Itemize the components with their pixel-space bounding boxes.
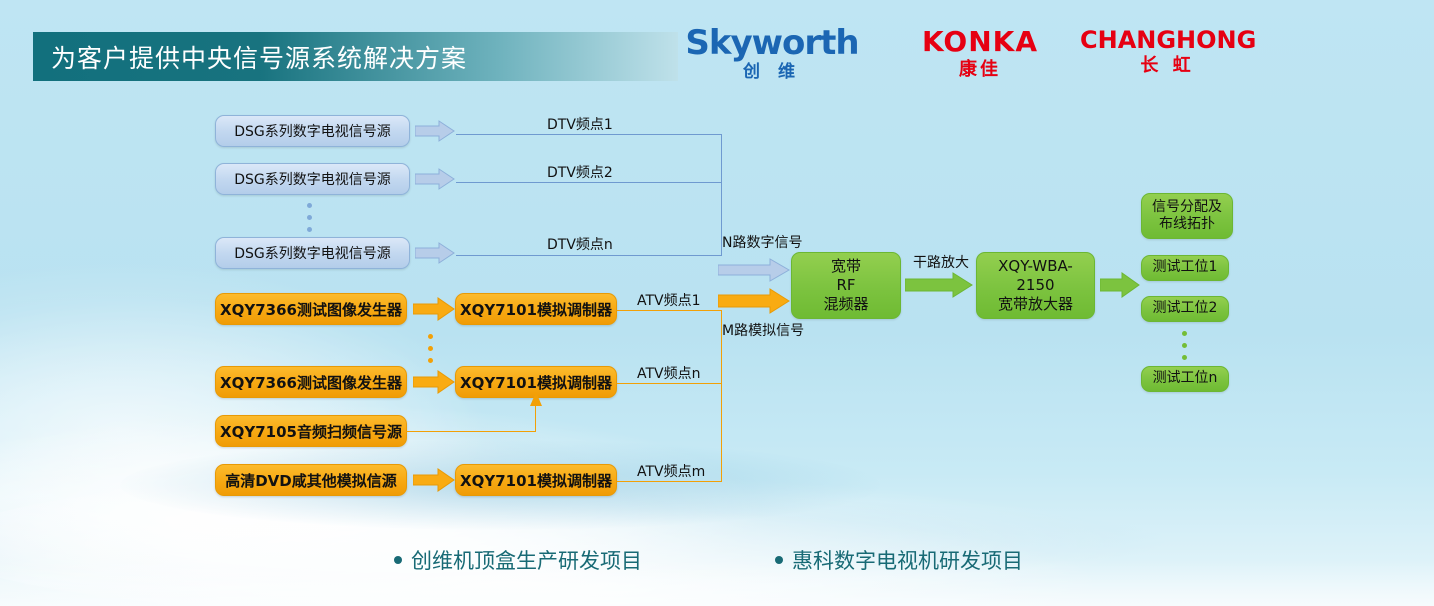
arrow-analog-bus-icon — [718, 288, 790, 314]
node-digital-source-1[interactable]: DSG系列数字电视信号源 — [215, 115, 410, 147]
atv-line-n — [617, 383, 722, 384]
node-test-station-n[interactable]: 测试工位n — [1141, 366, 1229, 392]
audio-route-arrowhead-icon — [529, 392, 543, 408]
analog-sources-ellipsis — [428, 334, 433, 363]
label-digital-bus: N路数字信号 — [722, 232, 802, 252]
footer-bullet-2: 惠科数字电视机研发项目 — [775, 545, 1023, 575]
audio-route-horizontal — [406, 431, 536, 432]
label-dtv-n: DTV频点n — [547, 234, 613, 254]
page-title: 为客户提供中央信号源系统解决方案 — [33, 39, 467, 75]
digital-line-2 — [456, 182, 722, 183]
label-atv-1: ATV频点1 — [637, 290, 701, 310]
footer-bullet-1: 创维机顶盒生产研发项目 — [394, 545, 642, 575]
node-digital-source-2[interactable]: DSG系列数字电视信号源 — [215, 163, 410, 195]
arrow-digital-n-icon — [415, 242, 455, 264]
slide-title-bar: 为客户提供中央信号源系统解决方案 — [33, 32, 678, 81]
atv-line-1 — [617, 310, 722, 311]
logo-konka: KONKA 康佳 — [905, 28, 1055, 79]
label-dtv-2: DTV频点2 — [547, 162, 613, 182]
arrow-dvd-icon — [413, 468, 455, 492]
logo-changhong-cn: 长 虹 — [1080, 57, 1255, 75]
footer-bullet-1-label: 创维机顶盒生产研发项目 — [411, 545, 642, 575]
logo-konka-en: KONKA — [905, 28, 1055, 56]
arrow-digital-bus-icon — [718, 258, 790, 282]
digital-line-1 — [456, 134, 722, 135]
node-signal-topology[interactable]: 信号分配及 布线拓扑 — [1141, 193, 1233, 239]
audio-route-vertical — [535, 406, 536, 432]
label-dtv-1: DTV频点1 — [547, 114, 613, 134]
background-swirl — [0, 560, 1434, 606]
digital-sources-ellipsis — [307, 203, 312, 232]
label-atv-m: ATV频点m — [637, 461, 705, 481]
logo-changhong-en: CHANGHONG — [1080, 28, 1255, 52]
node-dvd-source[interactable]: 高清DVD咸其他模拟信源 — [215, 464, 407, 496]
label-atv-n: ATV频点n — [637, 363, 701, 383]
bullet-dot-icon — [394, 556, 402, 564]
node-audio-sweep-source[interactable]: XQY7105音频扫频信号源 — [215, 415, 407, 447]
node-test-station-2[interactable]: 测试工位2 — [1141, 296, 1229, 322]
arrow-analog-2-icon — [413, 370, 455, 394]
arrow-digital-1-icon — [415, 120, 455, 142]
arrow-digital-2-icon — [415, 168, 455, 190]
footer-bullet-2-label: 惠科数字电视机研发项目 — [792, 545, 1023, 575]
node-modulator-1[interactable]: XQY7101模拟调制器 — [455, 293, 617, 325]
logo-skyworth-cn: 创 维 — [672, 64, 872, 81]
arrow-amplify-icon — [905, 272, 973, 298]
logo-konka-cn: 康佳 — [905, 61, 1055, 79]
atv-line-m — [617, 481, 722, 482]
arrow-analog-1-icon — [413, 297, 455, 321]
test-stations-ellipsis — [1182, 331, 1187, 360]
node-modulator-3[interactable]: XQY7101模拟调制器 — [455, 464, 617, 496]
label-trunk-amplify: 干路放大 — [913, 252, 969, 272]
node-image-generator-1[interactable]: XQY7366测试图像发生器 — [215, 293, 407, 325]
logo-changhong: CHANGHONG 长 虹 — [1080, 28, 1255, 75]
arrow-distribute-icon — [1100, 272, 1140, 298]
node-digital-source-n[interactable]: DSG系列数字电视信号源 — [215, 237, 410, 269]
digital-line-n — [456, 255, 722, 256]
node-broadband-amplifier[interactable]: XQY-WBA- 2150 宽带放大器 — [976, 252, 1095, 319]
bullet-dot-icon — [775, 556, 783, 564]
slide-canvas: 为客户提供中央信号源系统解决方案 Skyworth 创 维 KONKA 康佳 C… — [0, 0, 1434, 606]
node-image-generator-2[interactable]: XQY7366测试图像发生器 — [215, 366, 407, 398]
logo-skyworth-en: Skyworth — [672, 26, 872, 60]
label-analog-bus: M路模拟信号 — [722, 320, 804, 340]
node-test-station-1[interactable]: 测试工位1 — [1141, 255, 1229, 281]
logo-skyworth: Skyworth 创 维 — [672, 26, 872, 81]
node-rf-mixer[interactable]: 宽带 RF 混频器 — [791, 252, 901, 319]
